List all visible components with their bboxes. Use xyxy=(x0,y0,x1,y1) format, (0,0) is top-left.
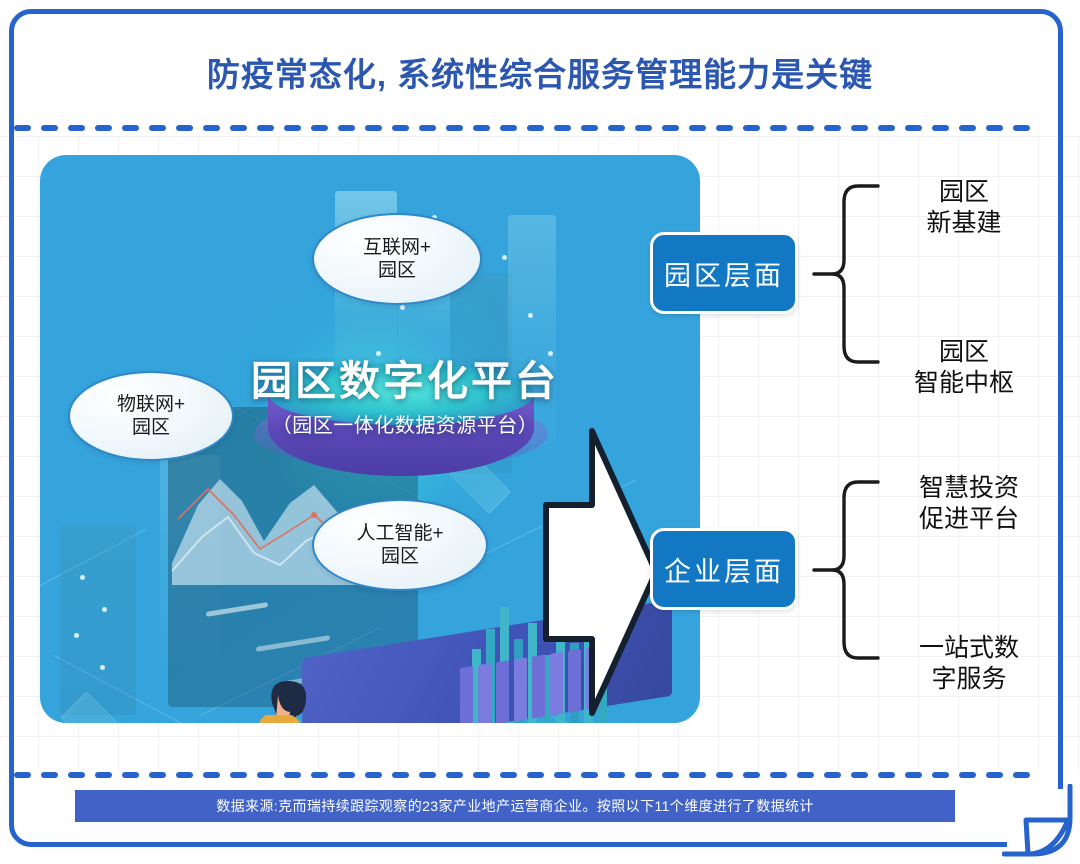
leaf-ent-onestop-line2: 字服务 xyxy=(884,664,1054,695)
leaf-ent-onestop: 一站式数 字服务 xyxy=(884,633,1054,696)
right-chevron-arrow-icon xyxy=(540,427,660,717)
spark-dot xyxy=(400,305,405,310)
spark-dot xyxy=(528,313,533,318)
level-box-enterprise-label: 企业层面 xyxy=(664,550,784,589)
level-box-park-label: 园区层面 xyxy=(664,254,784,293)
bubble-iot-plus-line1: 物联网+ xyxy=(117,393,185,416)
bubble-ai-plus[interactable]: 人工智能+ 园区 xyxy=(312,499,488,591)
bubble-internet-plus-line2: 园区 xyxy=(363,259,431,282)
leaf-park-newinfra-line1: 园区 xyxy=(884,177,1044,208)
source-caption-bar: 数据来源:克而瑞持续跟踪观察的23家产业地产运营商企业。按照以下11个维度进行了… xyxy=(75,790,955,822)
bubble-ai-plus-line2: 园区 xyxy=(356,545,443,568)
spark-dot xyxy=(80,575,85,580)
platform-title: 园区数字化平台 xyxy=(230,347,580,407)
level-box-enterprise[interactable]: 企业层面 xyxy=(650,528,798,610)
spark-dot xyxy=(502,255,507,260)
leaf-ent-invest: 智慧投资 促进平台 xyxy=(884,473,1054,536)
page-title: 防疫常态化, 系统性综合服务管理能力是关键 xyxy=(0,48,1080,96)
illustration-panel: 园区数字化平台 （园区一体化数据资源平台） 互联网+ 园区 物联网+ 园区 人工… xyxy=(40,155,700,723)
source-caption-text: 数据来源:克而瑞持续跟踪观察的23家产业地产运营商企业。按照以下11个维度进行了… xyxy=(216,796,814,816)
bubble-iot-plus-line2: 园区 xyxy=(117,416,185,439)
slide-canvas: 防疫常态化, 系统性综合服务管理能力是关键 xyxy=(0,0,1080,864)
leaf-park-brain: 园区 智能中枢 xyxy=(884,337,1044,400)
leaf-park-newinfra-line2: 新基建 xyxy=(884,208,1044,239)
folded-corner-icon xyxy=(1002,784,1074,858)
spark-dot xyxy=(102,607,107,612)
person-illustration xyxy=(238,651,334,723)
bubble-internet-plus-line1: 互联网+ xyxy=(363,236,431,259)
tower xyxy=(60,525,136,715)
platform-subtitle: （园区一体化数据资源平台） xyxy=(230,409,580,438)
leaf-ent-onestop-line1: 一站式数 xyxy=(884,633,1054,664)
bubble-ai-plus-line1: 人工智能+ xyxy=(356,522,443,545)
platform-wordmark: 园区数字化平台 （园区一体化数据资源平台） xyxy=(230,347,580,438)
brace-park xyxy=(812,180,882,370)
dashed-divider-bottom xyxy=(14,772,1060,778)
dashed-divider-top xyxy=(14,125,1060,131)
leaf-park-brain-line1: 园区 xyxy=(884,337,1044,368)
spark-dot xyxy=(74,633,79,638)
leaf-ent-invest-line1: 智慧投资 xyxy=(884,473,1054,504)
level-box-park[interactable]: 园区层面 xyxy=(650,232,798,314)
bubble-internet-plus[interactable]: 互联网+ 园区 xyxy=(312,213,482,305)
leaf-park-brain-line2: 智能中枢 xyxy=(884,368,1044,399)
leaf-park-newinfra: 园区 新基建 xyxy=(884,177,1044,240)
leaf-ent-invest-line2: 促进平台 xyxy=(884,504,1054,535)
spark-dot xyxy=(100,665,105,670)
bubble-iot-plus[interactable]: 物联网+ 园区 xyxy=(68,371,234,461)
brace-enterprise xyxy=(812,476,882,666)
